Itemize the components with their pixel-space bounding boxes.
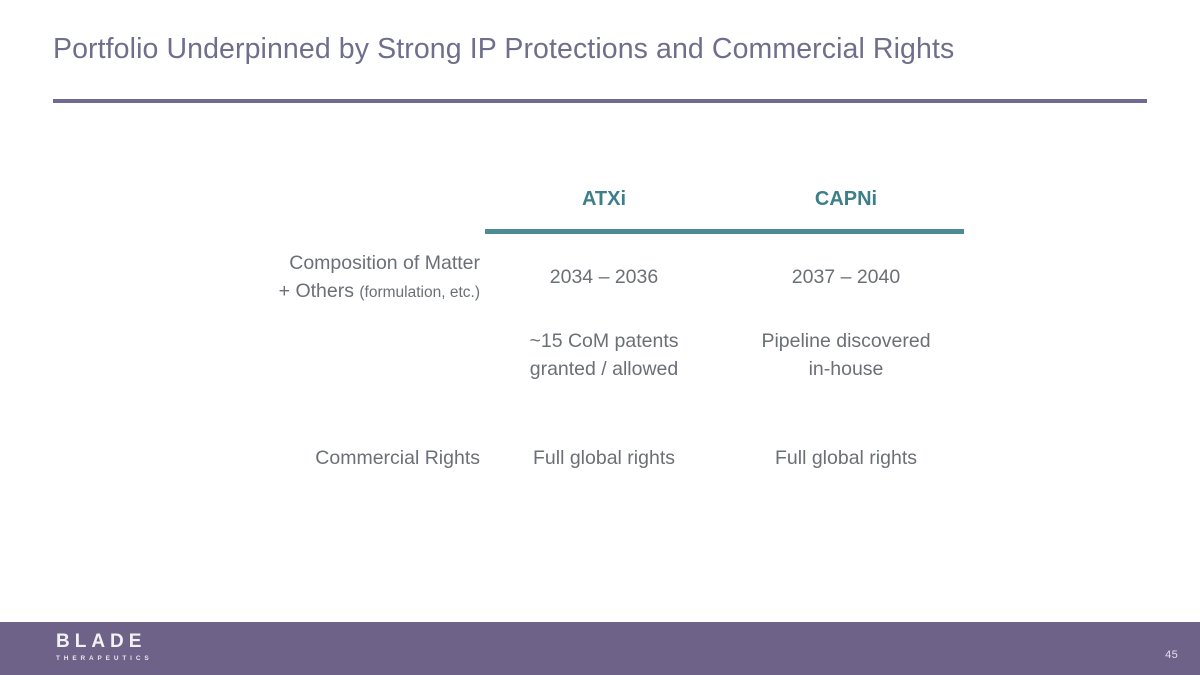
cell-atxi-patent-count: ~15 CoM patents granted / allowed: [484, 328, 724, 383]
table-row: ~15 CoM patents granted / allowed Pipeli…: [180, 328, 980, 383]
logo-tagline: THERAPEUTICS: [56, 656, 226, 662]
cell-capni-pipeline-origin-line2: in-house: [726, 356, 966, 384]
page-title: Portfolio Underpinned by Strong IP Prote…: [53, 32, 1153, 66]
title-divider: [53, 99, 1147, 103]
row-label-composition-of-matter: Composition of Matter + Others (formulat…: [180, 250, 484, 305]
cell-atxi-commercial-rights: Full global rights: [484, 445, 724, 473]
cell-atxi-patent-expiry: 2034 – 2036: [484, 250, 724, 292]
cell-capni-pipeline-origin: Pipeline discovered in-house: [726, 328, 966, 383]
column-header-atxi: ATXi: [484, 188, 724, 210]
cell-capni-commercial-rights: Full global rights: [726, 445, 966, 473]
row-label-line2: + Others (formulation, etc.): [180, 278, 480, 306]
blade-therapeutics-logo: BLADE THERAPEUTICS: [56, 632, 226, 662]
table-header-underline: [485, 229, 964, 234]
table-header-row: ATXi CAPNi: [180, 188, 980, 222]
cell-capni-pipeline-origin-line1: Pipeline discovered: [726, 328, 966, 356]
logo-wordmark: BLADE: [56, 632, 226, 651]
cell-atxi-patent-count-line2: granted / allowed: [484, 356, 724, 384]
cell-capni-patent-expiry: 2037 – 2040: [726, 250, 966, 292]
page-number: 45: [1165, 649, 1178, 661]
table-row: Commercial Rights Full global rights Ful…: [180, 445, 980, 473]
row-label-line1: Composition of Matter: [180, 250, 480, 278]
row-label-line2-note: (formulation, etc.): [359, 284, 480, 301]
slide: Portfolio Underpinned by Strong IP Prote…: [0, 0, 1200, 675]
row-label-commercial-rights: Commercial Rights: [180, 445, 484, 473]
table-row: Composition of Matter + Others (formulat…: [180, 250, 980, 305]
row-label-line2-main: + Others: [279, 280, 360, 302]
column-header-capni: CAPNi: [726, 188, 966, 210]
footer-bar: BLADE THERAPEUTICS 45: [0, 622, 1200, 675]
cell-atxi-patent-count-line1: ~15 CoM patents: [484, 328, 724, 356]
